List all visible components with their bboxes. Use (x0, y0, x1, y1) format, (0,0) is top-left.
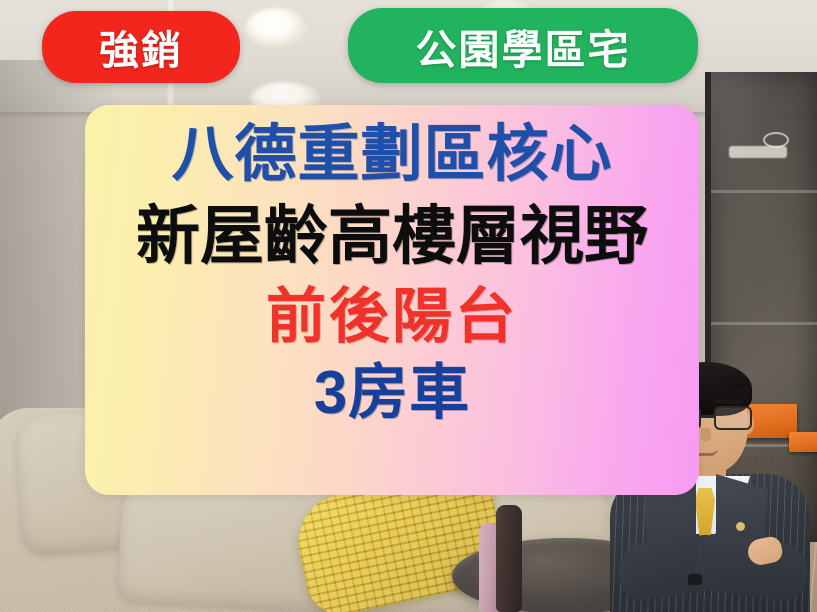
cabinet-shelf (711, 322, 817, 325)
headline-panel: 八德重劃區核心 新屋齡高樓層視野 前後陽台 3房車 (85, 105, 699, 495)
headline-line-balcony: 前後陽台 (85, 286, 699, 348)
promo-badge[interactable]: 強銷 (42, 11, 240, 83)
ceiling-light-icon (245, 8, 307, 48)
promo-graphic-canvas: 強銷 公園學區宅 八德重劃區核心 新屋齡高樓層視野 前後陽台 3房車 (0, 0, 817, 612)
cabinet-item-ring (763, 132, 789, 148)
headline-line-rooms: 3房車 (85, 362, 699, 424)
cabinet-shelf (711, 190, 817, 193)
headline-line-location: 八德重劃區核心 (85, 123, 699, 187)
feature-badge[interactable]: 公園學區宅 (348, 8, 698, 83)
agent-watch (688, 574, 702, 585)
dark-bottle (496, 505, 522, 612)
glasses-lens-right (714, 406, 752, 430)
agent-nose (701, 428, 711, 442)
glasses-bridge (701, 415, 715, 418)
agent-lapel-pin (736, 522, 745, 531)
headline-line-building: 新屋齡高樓層視野 (85, 203, 699, 270)
